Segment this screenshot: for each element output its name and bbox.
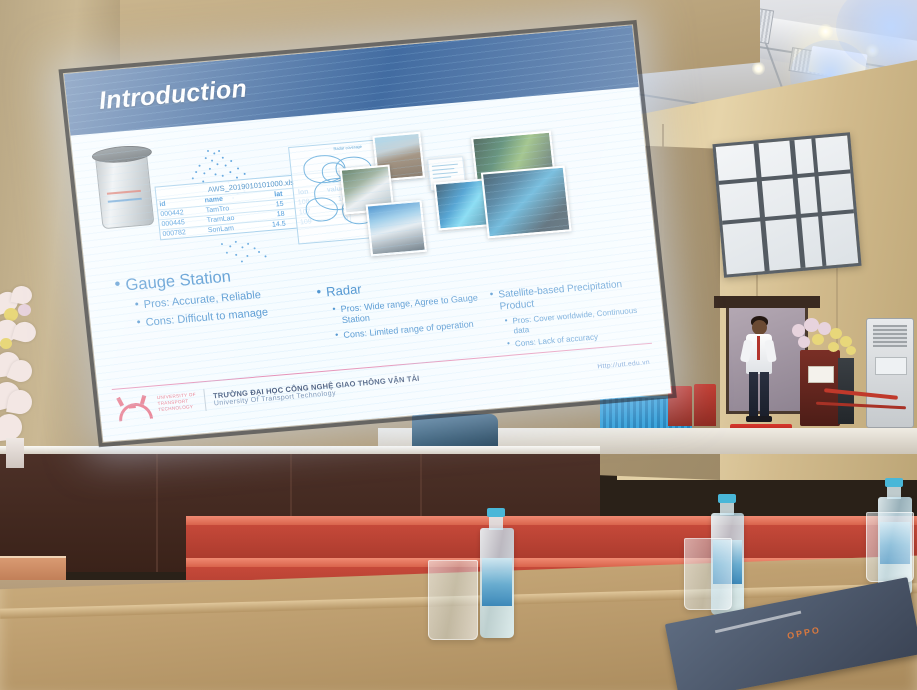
presenter-trousers [749, 372, 758, 418]
drinking-glass-3[interactable] [866, 512, 914, 582]
rain-gauge-icon [95, 149, 155, 229]
presenter-shoes [746, 416, 772, 422]
conference-hall-photo: Introduction [0, 0, 917, 690]
footer-separator [203, 389, 206, 411]
water-bottle-1[interactable] [478, 508, 516, 640]
column-gauge-station: • Gauge Station • Pros: Accurate, Reliab… [114, 260, 309, 332]
stage-chair-2 [694, 384, 716, 426]
flower-petal [10, 284, 33, 306]
flower-stand [6, 438, 24, 468]
window-mullion-v3 [811, 138, 826, 266]
bottle-cap [885, 478, 903, 487]
paneling-top-highlight [0, 446, 600, 454]
radar-dome-photo [366, 200, 427, 256]
column-satellite: • Satellite-based Precipitation Product … [489, 278, 640, 351]
bottle-cap [718, 494, 736, 503]
downlight-7 [752, 62, 765, 75]
website-url: Http://utt.edu.vn [597, 359, 650, 370]
flower-arrangement-left [0, 286, 52, 466]
flower-bloom [846, 346, 856, 355]
window-mullion-h2 [722, 209, 854, 224]
window-mullion-h1 [719, 169, 851, 184]
bottle-label [482, 558, 512, 606]
presenter-head [752, 320, 767, 335]
air-conditioner-panel [875, 357, 907, 375]
slide-footer: UNIVERSITY OF TRANSPORT TECHNOLOGY TRƯỜN… [115, 371, 421, 419]
air-conditioner-grill [873, 325, 907, 347]
folder-brand-text: OPPO [786, 625, 821, 641]
stage-chair-1 [668, 386, 692, 426]
presenter-trousers-2 [760, 372, 769, 418]
downlight-8 [818, 24, 833, 39]
bullet-dot: • [504, 317, 508, 325]
heading-text: Gauge Station [125, 267, 232, 296]
bullet-dot: • [114, 276, 122, 293]
flower-bloom [0, 338, 12, 349]
window-mullion-v2 [789, 140, 805, 268]
presentation-slide: Introduction [64, 25, 671, 442]
wall-seam-3 [662, 124, 664, 324]
projection-screen: Introduction [64, 25, 671, 442]
presenter-lanyard [757, 336, 760, 360]
stage-step-upper-nose [186, 516, 917, 525]
drinking-glass-2[interactable] [684, 538, 732, 610]
presenter [742, 316, 782, 426]
logo-stroke [140, 395, 146, 405]
flower-bloom [828, 342, 839, 352]
flower-bloom [798, 336, 810, 348]
bullet-dot: • [134, 300, 139, 311]
air-conditioner [866, 318, 914, 428]
heading-text: Radar [325, 281, 362, 300]
flower-petal [0, 413, 23, 442]
flower-bloom [804, 318, 819, 332]
utt-logo-icon [115, 394, 151, 419]
panel-seam-1 [156, 452, 158, 572]
map-caption: Radar coverage [333, 144, 362, 151]
bullet-dot: • [316, 285, 322, 298]
bullet-dot: • [507, 340, 511, 348]
podium-sign [808, 366, 834, 383]
satellite-imagery-3 [481, 166, 572, 239]
flower-bloom [18, 304, 31, 316]
doorway-header-beam [714, 296, 820, 308]
bullet-dot: • [136, 317, 141, 328]
window-mullion-v1 [754, 143, 770, 271]
logo-stroke [128, 404, 135, 409]
bottle-cap [487, 508, 505, 517]
bullet-dot: • [332, 304, 336, 313]
bullet-dot: • [489, 290, 494, 300]
university-names: TRƯỜNG ĐẠI HỌC CÔNG NGHỆ GIAO THÔNG VẬN … [213, 374, 421, 408]
hall-window [712, 132, 861, 278]
logo-stroke [116, 397, 124, 407]
bullet-dot: • [335, 330, 339, 339]
utt-logo-text: UNIVERSITY OF TRANSPORT TECHNOLOGY [157, 392, 198, 414]
drinking-glass-1[interactable] [428, 560, 478, 640]
column-radar: • Radar • Pros: Wide range, Agree to Gau… [316, 271, 492, 343]
flower-bloom [812, 334, 824, 345]
stage-monitor-speaker [412, 414, 498, 448]
